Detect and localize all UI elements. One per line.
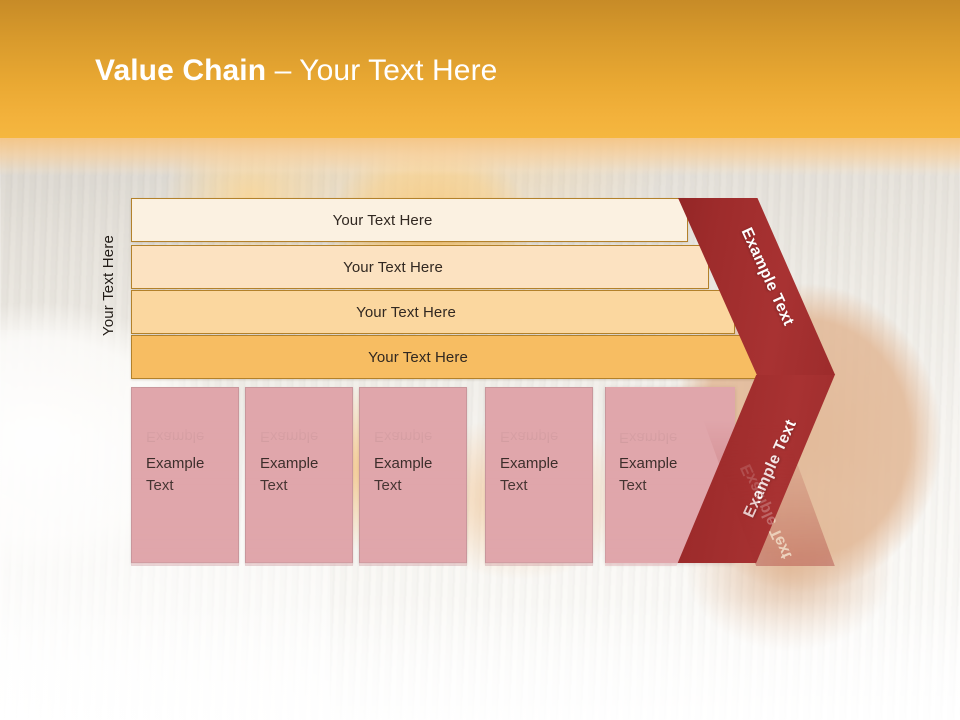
chevron-arrow-top-band[interactable]: [660, 190, 850, 385]
chevron-arrow: Example Text Example Text: [0, 0, 960, 720]
chevron-arrow-bottom-band[interactable]: [660, 370, 850, 570]
slide-canvas: Value Chain – Your Text Here Your Text H…: [0, 0, 960, 720]
